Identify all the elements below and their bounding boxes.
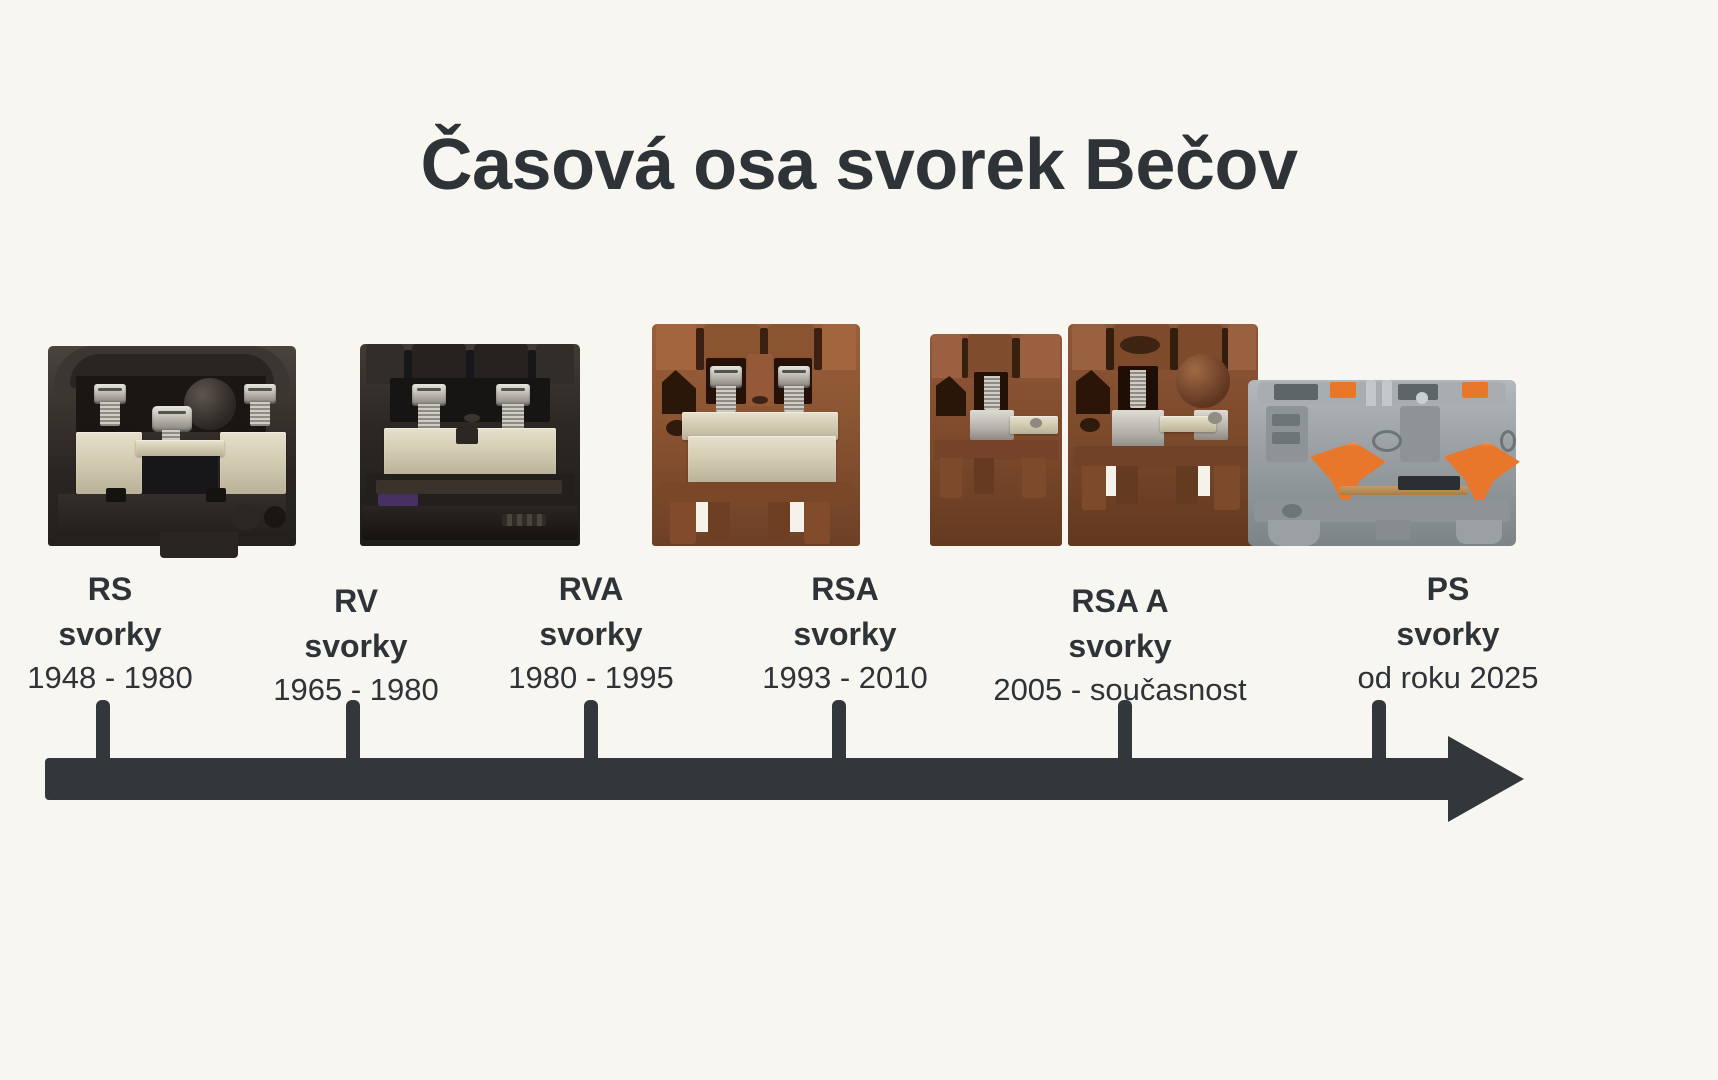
terminal-block-rsa-a-image bbox=[1068, 318, 1258, 546]
timeline-tick-rv bbox=[346, 700, 360, 762]
timeline-tick-rs bbox=[96, 700, 110, 762]
product-image-strip bbox=[0, 296, 1718, 546]
timeline-axis bbox=[0, 700, 1718, 840]
timeline-tick-ps bbox=[1372, 700, 1386, 762]
terminal-block-rsa-image bbox=[930, 324, 1062, 546]
page-title: Časová osa svorek Bečov bbox=[0, 124, 1718, 206]
terminal-block-rv-image bbox=[360, 332, 580, 546]
timeline-arrow-icon bbox=[1448, 736, 1524, 822]
caption-name: RSA bbox=[690, 566, 1000, 612]
timeline-axis-line bbox=[45, 758, 1485, 800]
terminal-block-rs-image bbox=[48, 330, 296, 546]
timeline-caption-rsa-a: RSA A svorky 2005 - současnost bbox=[960, 578, 1280, 712]
timeline-caption-ps: PS svorky od roku 2025 bbox=[1288, 566, 1608, 700]
timeline-caption-rsa: RSA svorky 1993 - 2010 bbox=[690, 566, 1000, 700]
caption-name: PS bbox=[1288, 566, 1608, 612]
timeline-tick-rsa bbox=[832, 700, 846, 762]
caption-years: od roku 2025 bbox=[1288, 656, 1608, 700]
caption-unit: svorky bbox=[690, 612, 1000, 656]
terminal-block-rva-image bbox=[652, 318, 860, 546]
timeline-tick-rva bbox=[584, 700, 598, 762]
caption-name: RSA A bbox=[960, 578, 1280, 624]
caption-unit: svorky bbox=[960, 624, 1280, 668]
timeline-tick-rsa-a bbox=[1118, 700, 1132, 762]
terminal-block-ps-image bbox=[1248, 354, 1516, 546]
timeline-captions: RS svorky 1948 - 1980 RV svorky 1965 - 1… bbox=[0, 566, 1718, 696]
caption-unit: svorky bbox=[1288, 612, 1608, 656]
caption-years: 1993 - 2010 bbox=[690, 656, 1000, 700]
